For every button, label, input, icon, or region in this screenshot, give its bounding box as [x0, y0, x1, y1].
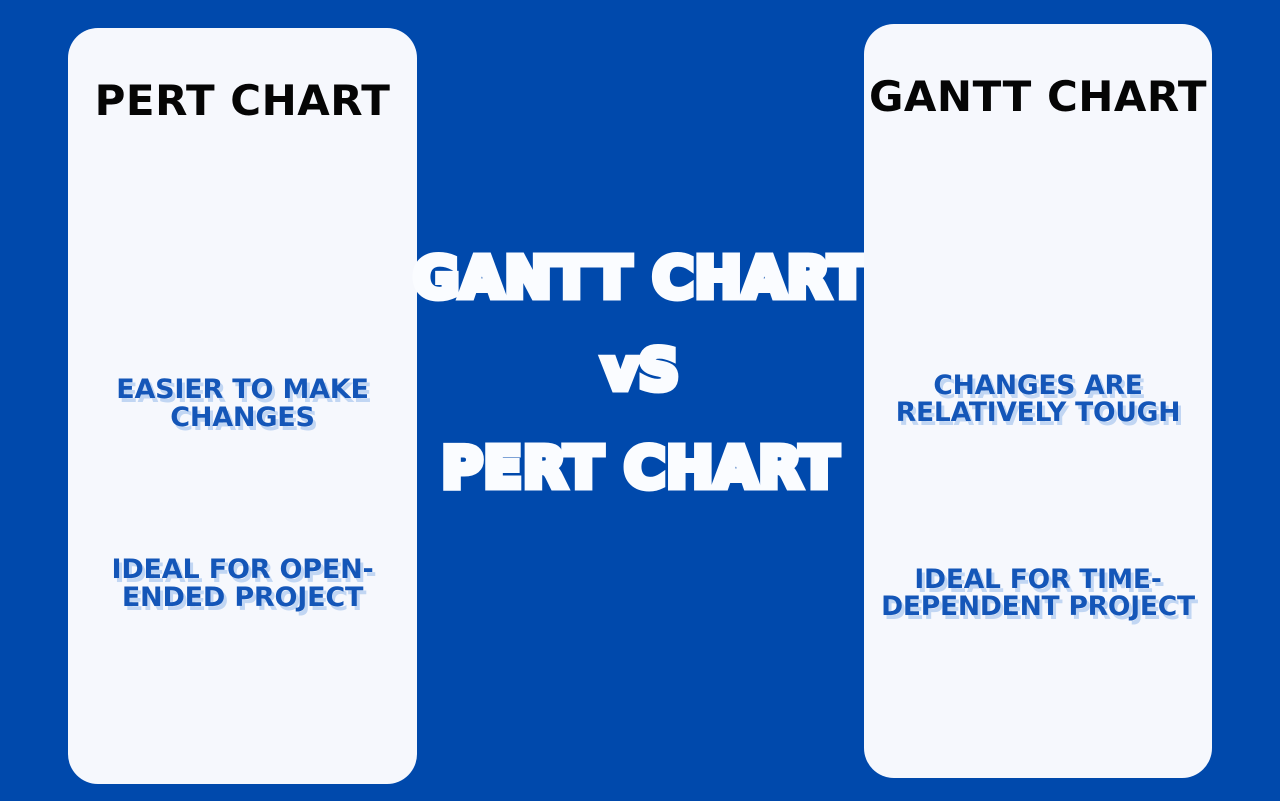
gantt-card-title: GANTT CHART — [869, 72, 1207, 121]
headline-gantt-chart: GANTT CHART — [413, 251, 867, 307]
gantt-chart-card: GANTT CHART CHANGES ARE RELATIVELY TOUGH… — [864, 24, 1212, 778]
pert-card-title: PERT CHART — [95, 76, 391, 125]
comparison-poster: PERT CHART EASIER TO MAKE CHANGES IDEAL … — [0, 0, 1280, 801]
pert-benefit-changes: EASIER TO MAKE CHANGES — [68, 376, 417, 431]
headline-pert-chart: PERT CHART — [413, 441, 867, 497]
gantt-trait-changes: CHANGES ARE RELATIVELY TOUGH — [864, 372, 1212, 426]
center-headline-inner: GANTT CHART vS PERT CHART — [413, 251, 867, 497]
gantt-trait-project-type: IDEAL FOR TIME-DEPENDENT PROJECT — [864, 566, 1212, 620]
headline-versus: vS — [413, 343, 867, 399]
center-headline-block: GANTT CHART vS PERT CHART — [417, 24, 864, 784]
pert-chart-card: PERT CHART EASIER TO MAKE CHANGES IDEAL … — [68, 28, 417, 784]
pert-benefit-project-type: IDEAL FOR OPEN-ENDED PROJECT — [68, 556, 417, 611]
